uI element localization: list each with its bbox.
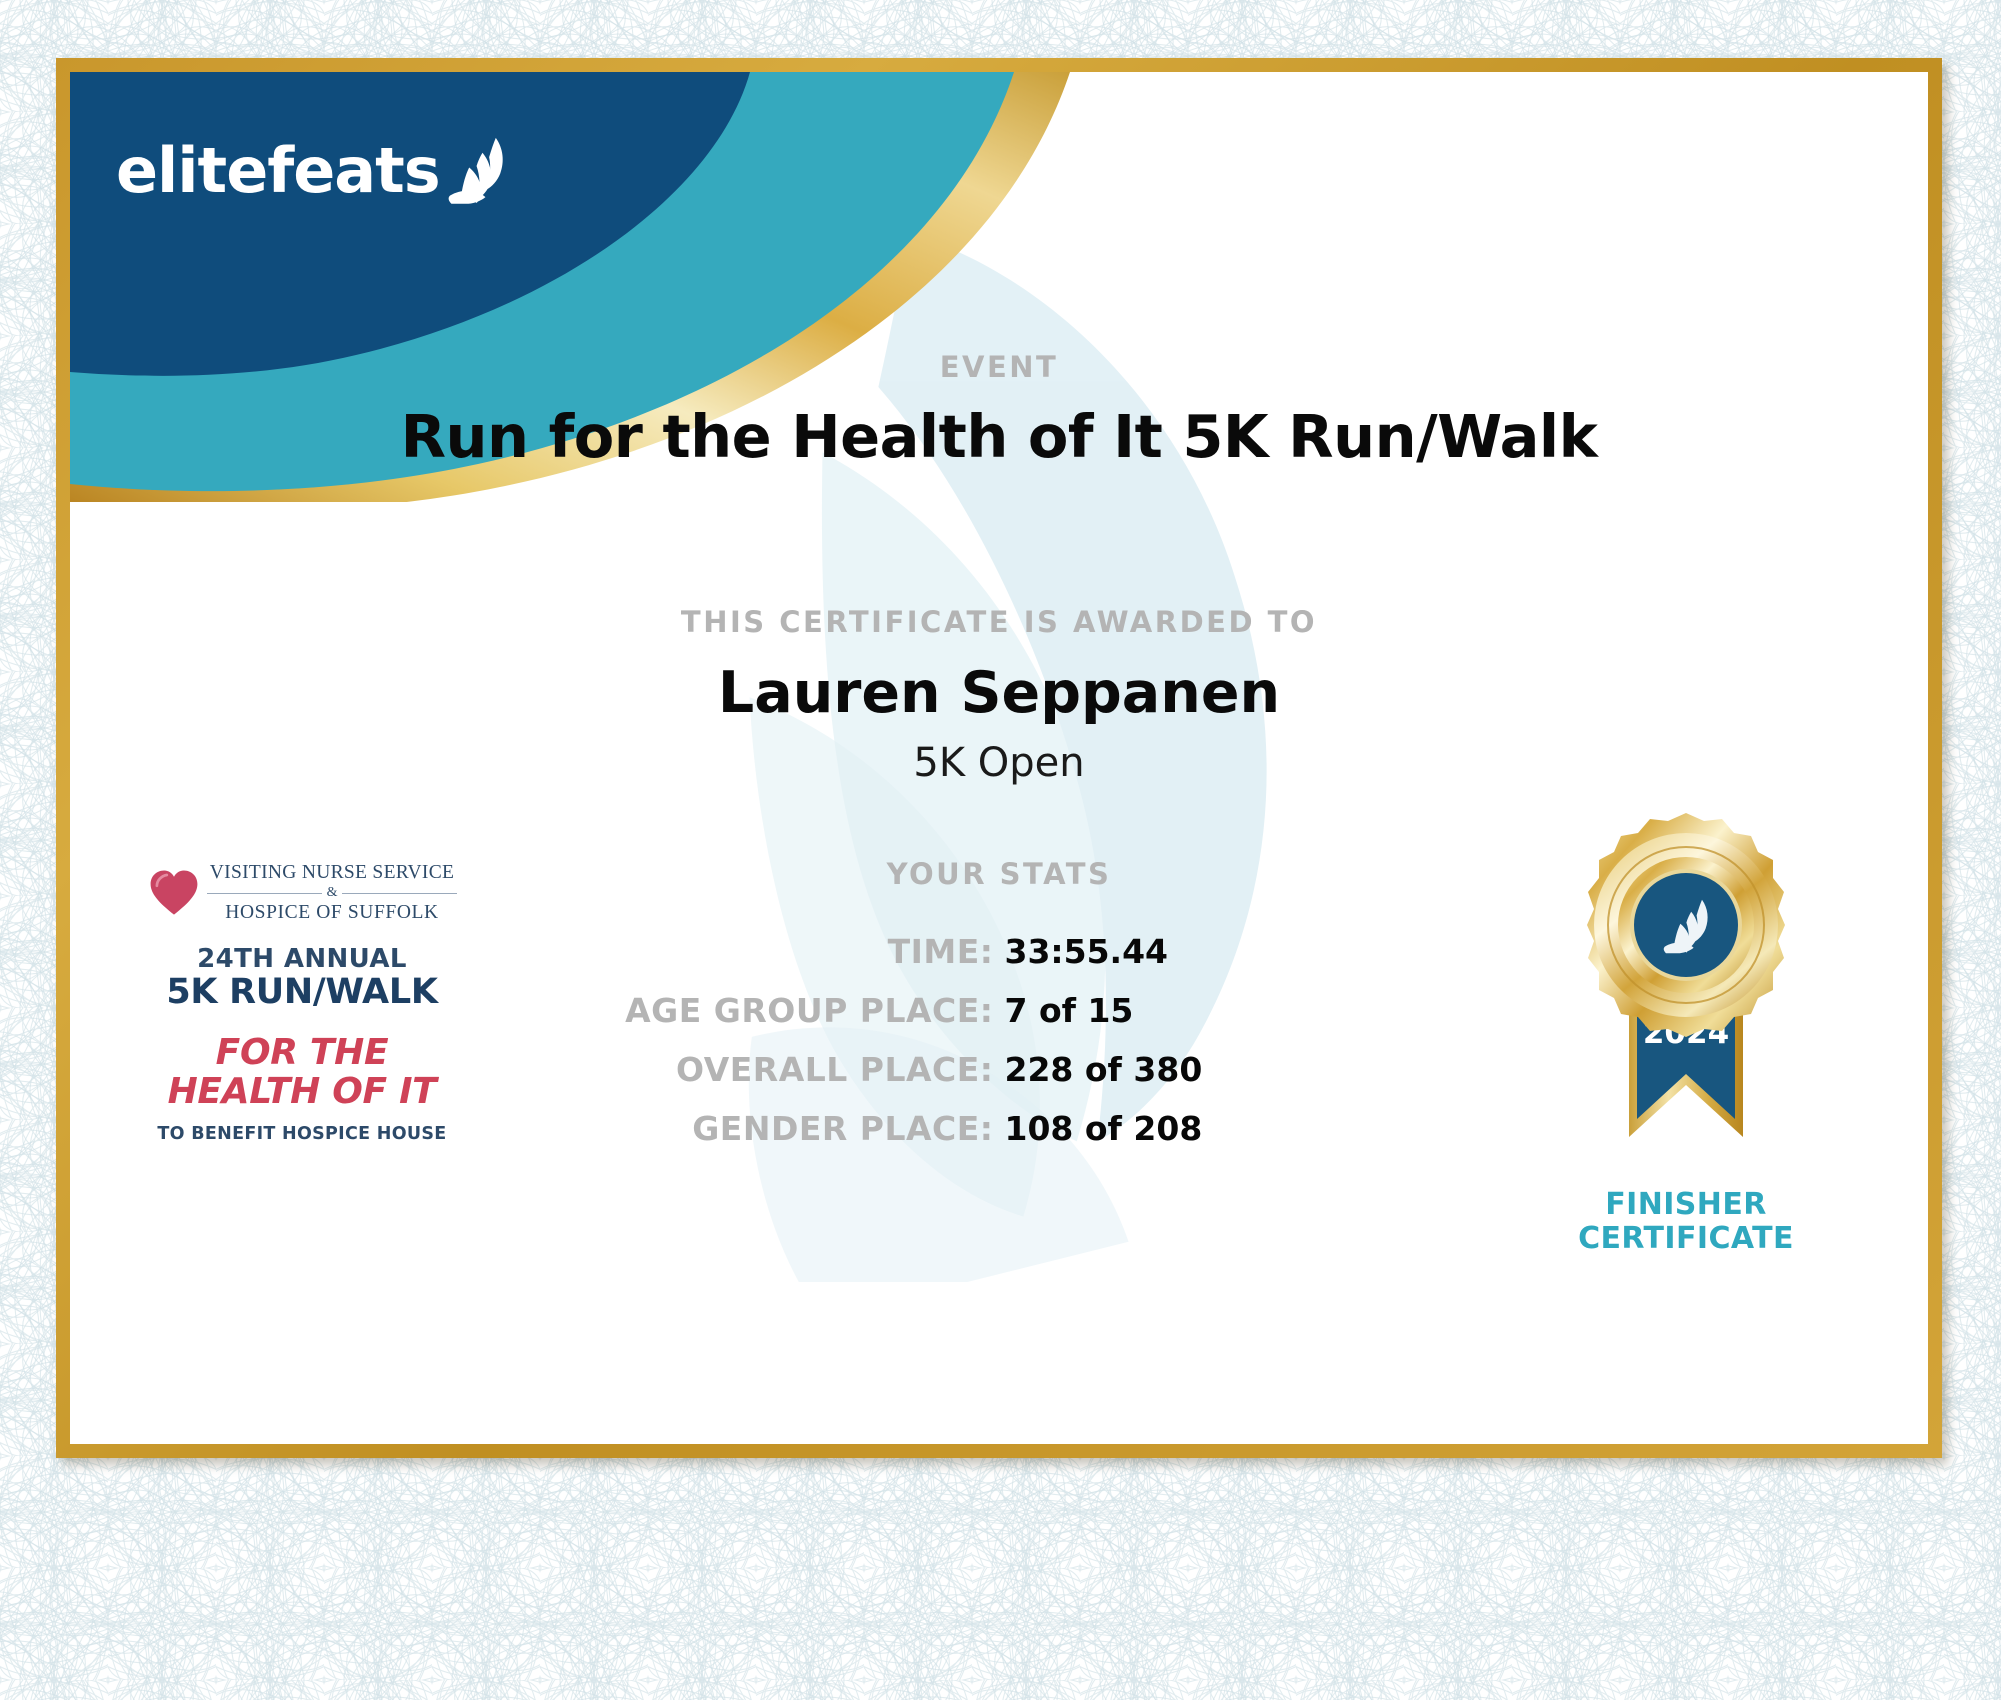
sponsor-org-amp-rule: & xyxy=(207,885,457,901)
finisher-medal: 2024 xyxy=(1536,807,1836,1255)
gold-border-frame: elitefeats EVENT Run for the Health xyxy=(56,58,1942,1458)
sponsor-org-line1: VISITING NURSE SERVICE xyxy=(207,862,457,884)
recipient-division: 5K Open xyxy=(70,740,1928,786)
sponsor-tagline-line2: HEALTH OF IT xyxy=(147,1073,457,1112)
sponsor-logo: VISITING NURSE SERVICE & HOSPICE OF SUFF… xyxy=(147,862,457,1144)
medal-graphic: 2024 xyxy=(1561,807,1811,1177)
winged-foot-icon xyxy=(444,132,518,206)
sponsor-org-name: VISITING NURSE SERVICE & HOSPICE OF SUFF… xyxy=(207,862,457,924)
sponsor-org-lockup: VISITING NURSE SERVICE & HOSPICE OF SUFF… xyxy=(147,862,457,924)
event-title: Run for the Health of It 5K Run/Walk xyxy=(70,402,1928,471)
heart-icon xyxy=(147,866,201,920)
recipient-name: Lauren Seppanen xyxy=(70,660,1928,726)
awarded-to-label: THIS CERTIFICATE IS AWARDED TO xyxy=(70,605,1928,639)
stat-key-age-group-place: AGE GROUP PLACE: xyxy=(539,991,994,1030)
sponsor-org-amp: & xyxy=(327,885,338,901)
sponsor-tagline: FOR THE HEALTH OF IT xyxy=(147,1034,457,1112)
stat-key-overall-place: OVERALL PLACE: xyxy=(539,1050,994,1089)
stat-value-gender-place: 108 of 208 xyxy=(994,1109,1460,1148)
sponsor-org-line2: HOSPICE OF SUFFOLK xyxy=(207,902,457,924)
brand-logo: elitefeats xyxy=(116,132,518,202)
stat-key-time: TIME: xyxy=(539,932,994,971)
rule-left xyxy=(207,893,322,894)
medal-caption-line2: CERTIFICATE xyxy=(1536,1222,1836,1256)
sponsor-tagline-line1: FOR THE xyxy=(147,1034,457,1073)
stat-value-time: 33:55.44 xyxy=(994,932,1460,971)
certificate-page: elitefeats EVENT Run for the Health xyxy=(0,0,2001,1700)
stat-value-overall-place: 228 of 380 xyxy=(994,1050,1460,1089)
event-label: EVENT xyxy=(70,350,1928,384)
sponsor-annual: 24TH ANNUAL xyxy=(147,944,457,974)
sponsor-benefit: TO BENEFIT HOSPICE HOUSE xyxy=(147,1124,457,1144)
stat-key-gender-place: GENDER PLACE: xyxy=(539,1109,994,1148)
stat-value-age-group-place: 7 of 15 xyxy=(994,991,1460,1030)
certificate-body: elitefeats EVENT Run for the Health xyxy=(70,72,1928,1444)
sponsor-event: 5K RUN/WALK xyxy=(147,972,457,1012)
medal-caption: FINISHER CERTIFICATE xyxy=(1536,1188,1836,1255)
brand-wordmark: elitefeats xyxy=(116,140,440,202)
rule-right xyxy=(342,893,457,894)
certificate-content: EVENT Run for the Health of It 5K Run/Wa… xyxy=(70,72,1928,1444)
medal-caption-line1: FINISHER xyxy=(1536,1188,1836,1222)
